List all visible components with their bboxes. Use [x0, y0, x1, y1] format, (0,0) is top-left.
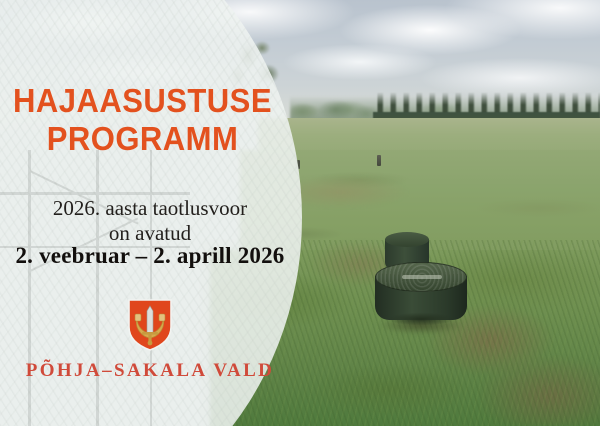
tank-lid	[375, 262, 467, 292]
municipality-name: PÕHJA–SAKALA VALD	[0, 360, 300, 382]
subtitle-line-1: 2026. aasta taotlusvoor	[0, 196, 300, 221]
field-marker-post	[377, 155, 381, 166]
poster-subtitle: 2026. aasta taotlusvoor on avatud	[0, 196, 300, 246]
tank-lid-handle	[402, 275, 442, 279]
poster-text-block: HAJAASUSTUSE PROGRAMM 2026. aasta taotlu…	[0, 0, 300, 426]
headline-line-2: PROGRAMM	[9, 120, 277, 158]
headline-line-1: HAJAASUSTUSE	[13, 82, 272, 119]
coat-of-arms-icon	[128, 299, 172, 351]
riser-small-lid	[385, 232, 429, 247]
poster-headline: HAJAASUSTUSE PROGRAMM	[9, 82, 277, 158]
poster-canvas: HAJAASUSTUSE PROGRAMM 2026. aasta taotlu…	[0, 0, 600, 426]
application-period-dates: 2. veebruar – 2. aprill 2026	[0, 243, 300, 269]
septic-tank-cover	[375, 262, 467, 326]
